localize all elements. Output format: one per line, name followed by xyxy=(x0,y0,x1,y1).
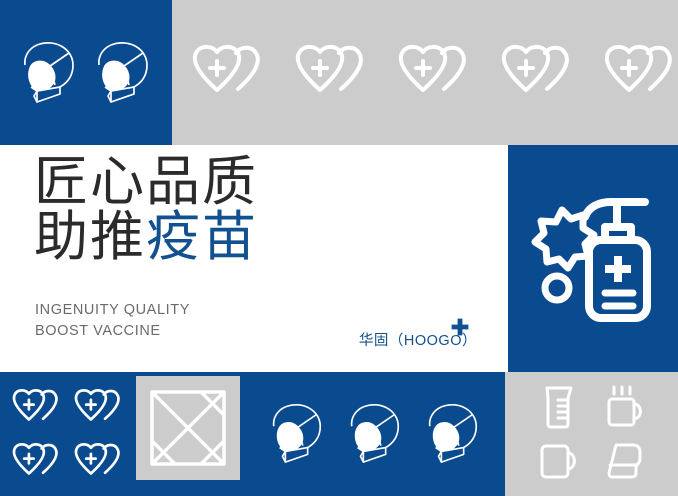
pitcher-icon xyxy=(602,439,648,483)
top-blue-panel xyxy=(0,0,172,145)
hand-sanitizer-pump-bottle-icon xyxy=(527,192,659,326)
bottom-gray-right-panel xyxy=(505,372,678,496)
double-heart-plus-icon xyxy=(289,43,375,103)
subtitle-line-1: INGENUITY QUALITY xyxy=(35,300,190,321)
sanitizer-panel xyxy=(508,145,678,372)
steaming-cup-icon xyxy=(602,384,648,430)
hearts-grid xyxy=(8,382,128,488)
page-title: 匠心品质 助推疫苗 xyxy=(34,155,258,265)
headline-line-2-dark: 助推 xyxy=(34,207,146,267)
image-placeholder-icon xyxy=(149,389,227,467)
double-heart-plus-icon xyxy=(8,440,66,484)
headline-line-2: 助推疫苗 xyxy=(34,210,258,265)
double-heart-plus-icon xyxy=(70,386,128,430)
double-heart-plus-icon xyxy=(186,43,272,103)
double-heart-plus-icon xyxy=(8,386,66,430)
masked-face-icon xyxy=(422,398,484,470)
image-placeholder-panel xyxy=(136,376,240,480)
double-heart-plus-icon xyxy=(598,43,678,103)
small-circle-icon xyxy=(545,276,569,300)
subtitle-line-2: BOOST VACCINE xyxy=(35,321,190,342)
mug-icon xyxy=(537,440,581,482)
double-heart-plus-icon xyxy=(495,43,581,103)
bottom-blue-middle-panel xyxy=(245,372,505,496)
headline-line-1: 匠心品质 xyxy=(34,152,258,212)
double-heart-plus-icon xyxy=(70,440,128,484)
lab-vessel-grid xyxy=(531,381,653,487)
masked-face-icon xyxy=(91,36,155,110)
subtitle-english: INGENUITY QUALITY BOOST VACCINE xyxy=(35,300,190,342)
top-gray-panel xyxy=(172,0,678,145)
masked-face-icon xyxy=(17,36,81,110)
double-heart-plus-icon xyxy=(392,43,478,103)
masked-face-icon xyxy=(344,398,406,470)
masked-face-icon xyxy=(266,398,328,470)
poster-canvas: 匠心品质 助推疫苗 INGENUITY QUALITY BOOST VACCIN… xyxy=(0,0,678,496)
headline-card: 匠心品质 助推疫苗 INGENUITY QUALITY BOOST VACCIN… xyxy=(0,145,505,372)
beaker-icon xyxy=(538,384,580,430)
headline-line-2-accent: 疫苗 xyxy=(146,207,258,267)
medical-cross-icon xyxy=(450,317,470,337)
